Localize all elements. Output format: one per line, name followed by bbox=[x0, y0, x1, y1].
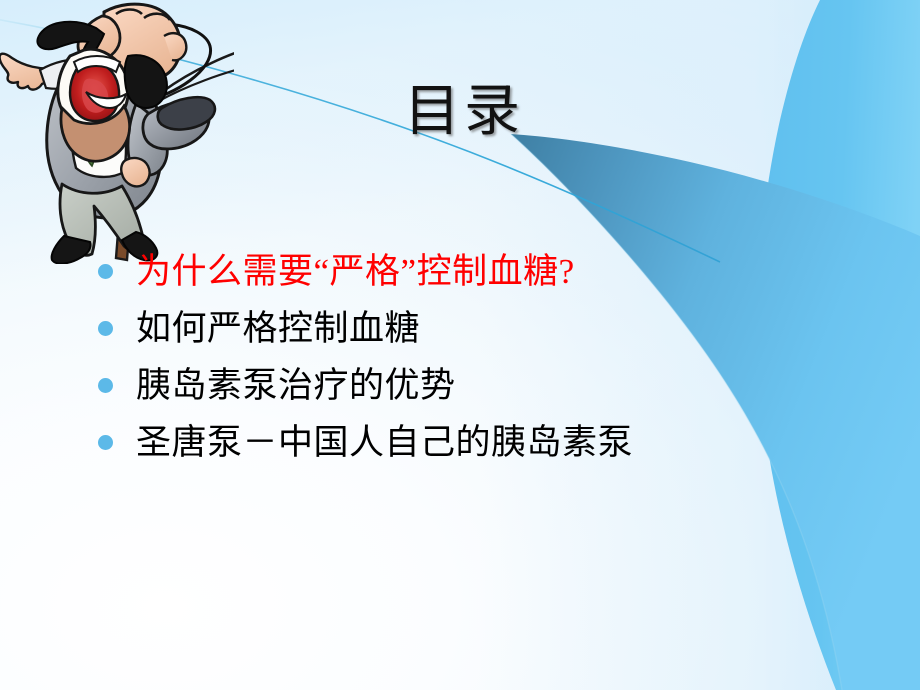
slide-canvas: 目录 为什么需要“严格”控制血糖? 如何严格控制血糖 胰岛素泵治疗的优势 圣唐泵… bbox=[0, 0, 920, 690]
shouting-singer-cartoon-icon bbox=[0, 0, 234, 264]
list-item-label: 胰岛素泵治疗的优势 bbox=[136, 368, 456, 403]
list-item-label: 如何严格控制血糖 bbox=[136, 311, 420, 346]
list-item-label: 为什么需要“严格”控制血糖? bbox=[136, 254, 575, 289]
bullet-dot-icon bbox=[98, 264, 113, 279]
list-item-label: 圣唐泵－中国人自己的胰岛素泵 bbox=[136, 425, 633, 460]
list-item[interactable]: 圣唐泵－中国人自己的胰岛素泵 bbox=[98, 414, 838, 471]
bullet-dot-icon bbox=[98, 435, 113, 450]
bullet-dot-icon bbox=[98, 321, 113, 336]
agenda-list: 为什么需要“严格”控制血糖? 如何严格控制血糖 胰岛素泵治疗的优势 圣唐泵－中国… bbox=[98, 243, 838, 471]
list-item[interactable]: 如何严格控制血糖 bbox=[98, 300, 838, 357]
bullet-dot-icon bbox=[98, 378, 113, 393]
list-item[interactable]: 胰岛素泵治疗的优势 bbox=[98, 357, 838, 414]
page-title: 目录 bbox=[404, 83, 524, 142]
list-item[interactable]: 为什么需要“严格”控制血糖? bbox=[98, 243, 838, 300]
